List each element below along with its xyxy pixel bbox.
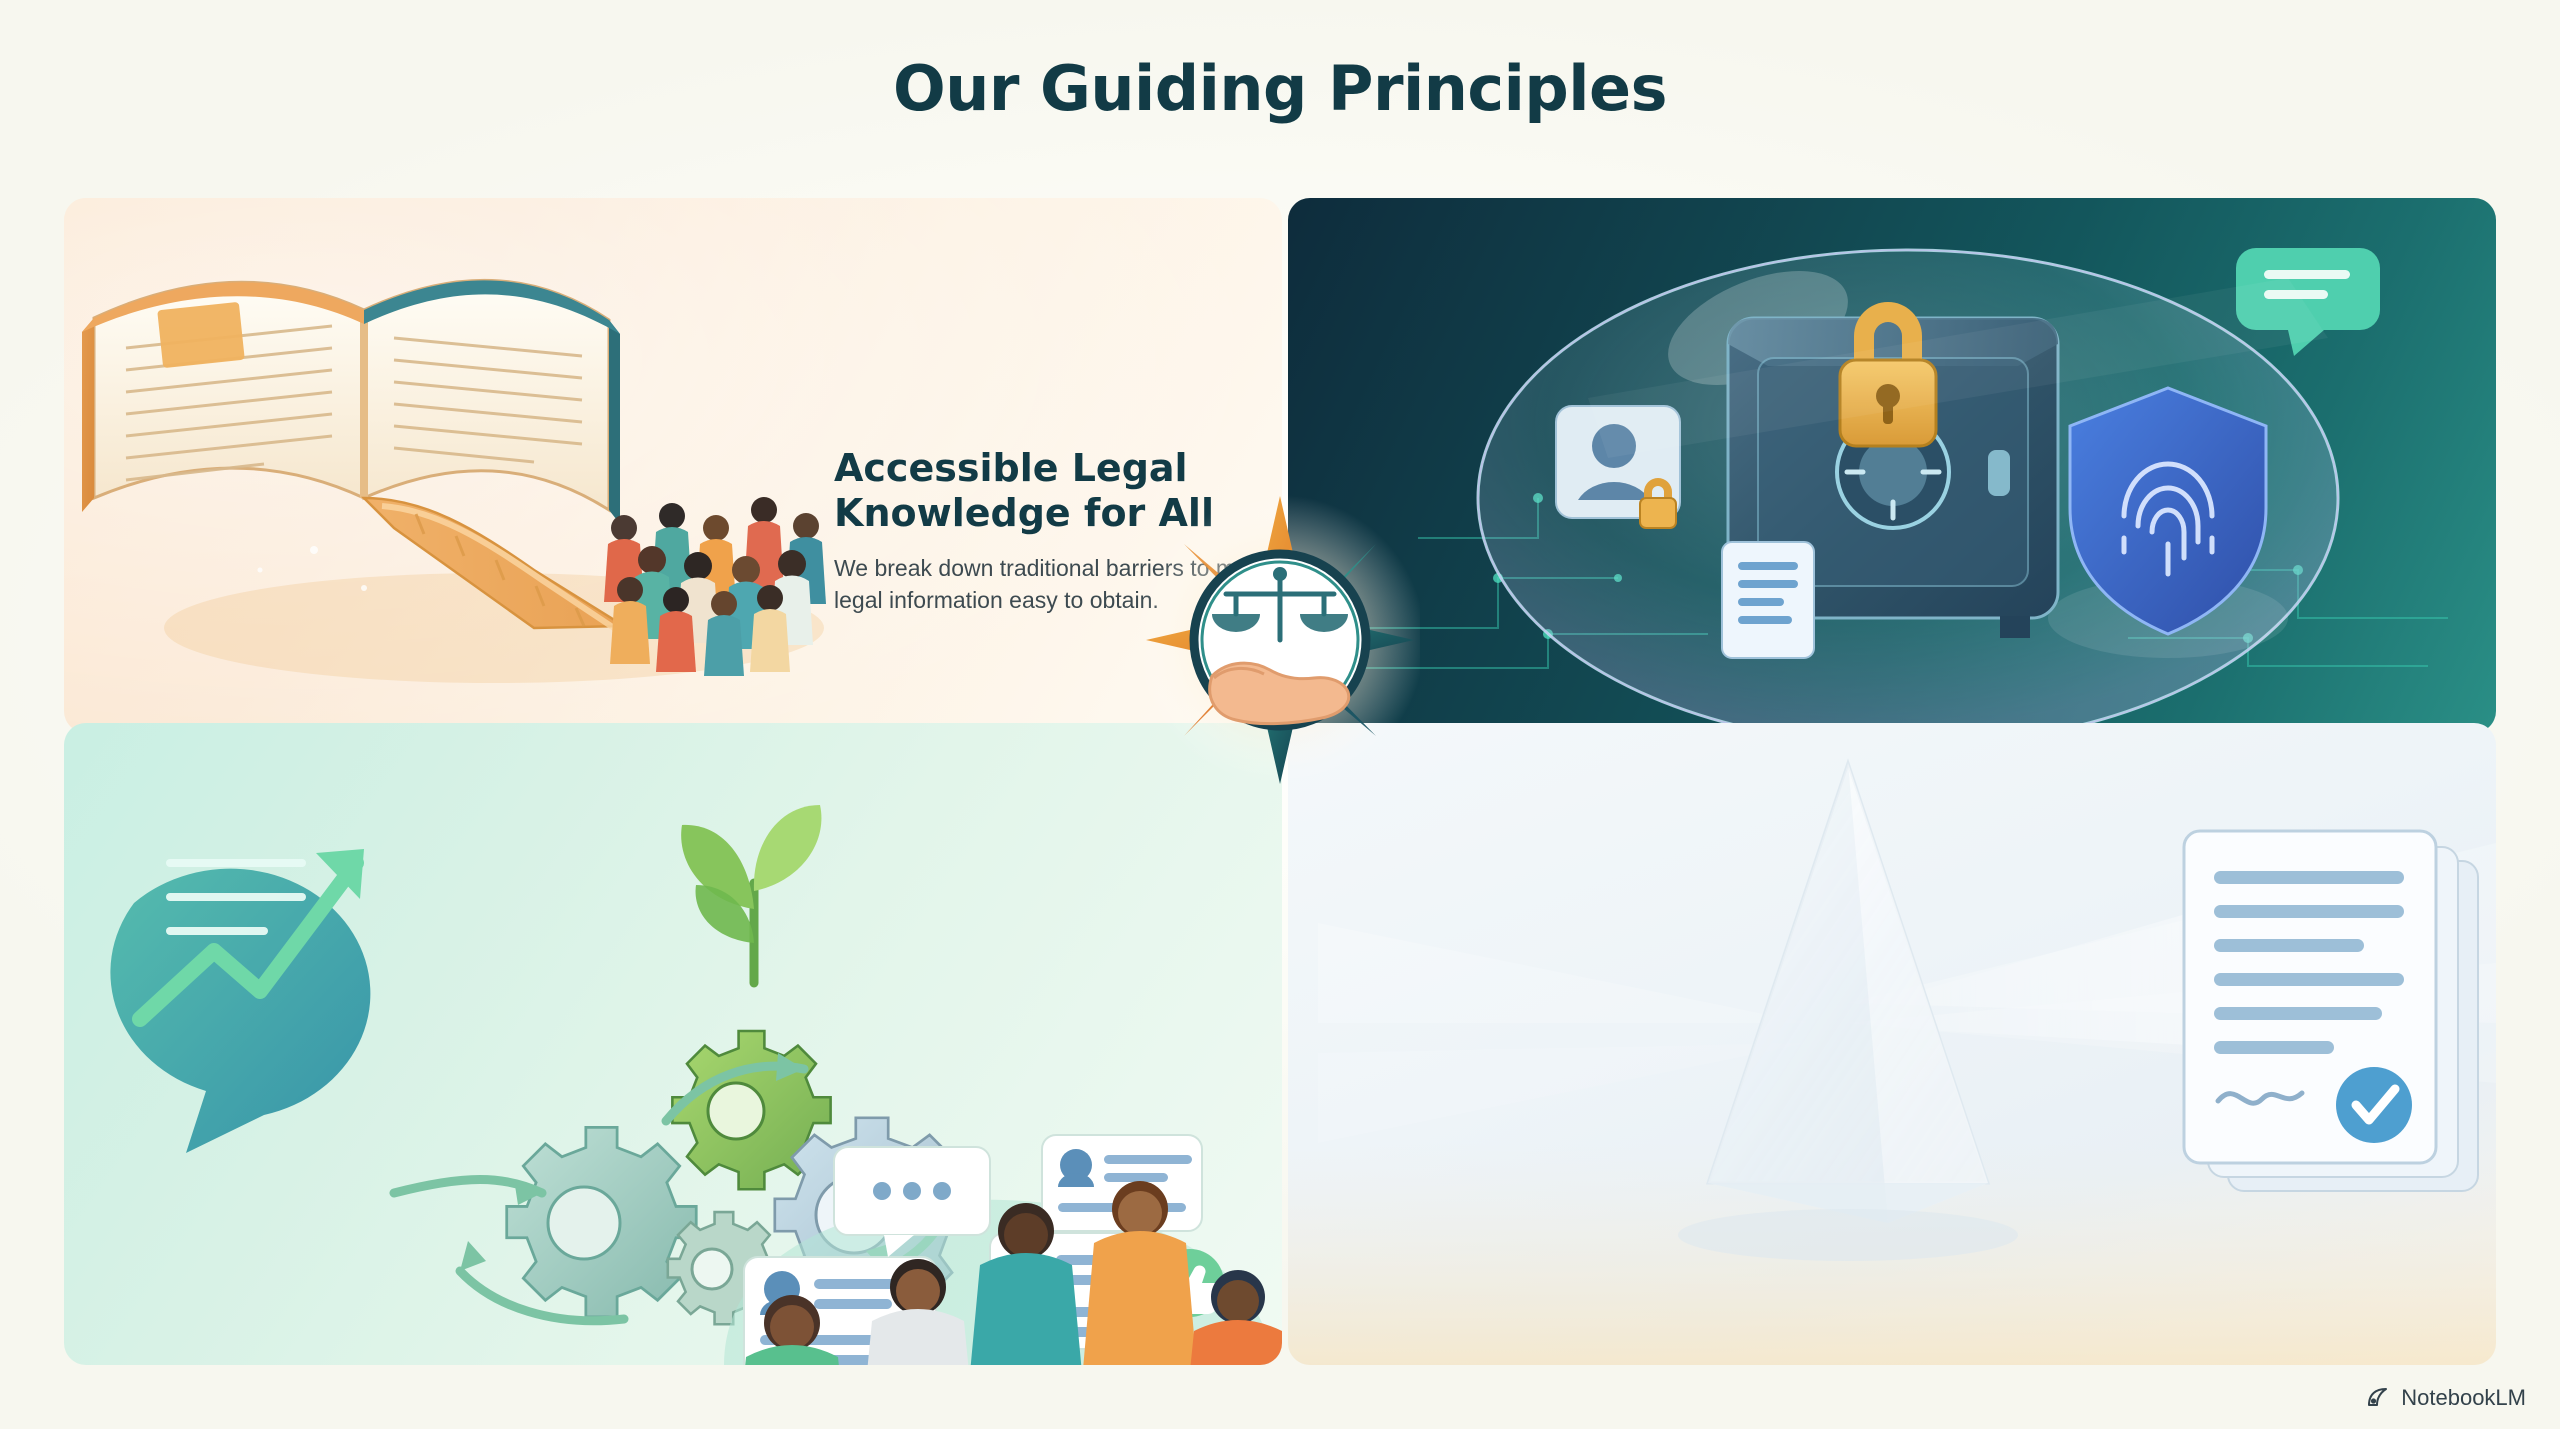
panel-accessible-legal-knowledge: Accessible Legal Knowledge for All We br… [64,198,1282,733]
poster-canvas: Our Guiding Principles [0,0,2560,1429]
panel-driven-by-feedback: Driven by Your Feedback We continually i… [64,723,1282,1365]
prism-documents-illustration [1288,723,2496,1365]
watermark: NotebookLM [2366,1385,2526,1411]
scales-of-justice-in-hand-compass-emblem [1140,490,1420,790]
privacy-security-illustration [1288,198,2496,733]
notebooklm-logo-icon [2366,1385,2392,1411]
feedback-gears-people-illustration [64,723,1282,1365]
watermark-label: NotebookLM [2401,1385,2526,1411]
page-title: Our Guiding Principles [0,52,2560,125]
center-emblem [1140,490,1420,790]
panel-transparent-trustworthy: Transparent & Trustworthy We provide cre… [1288,723,2496,1365]
panel-strict-privacy-security: Strict Privacy & Security Your data and … [1288,198,2496,733]
